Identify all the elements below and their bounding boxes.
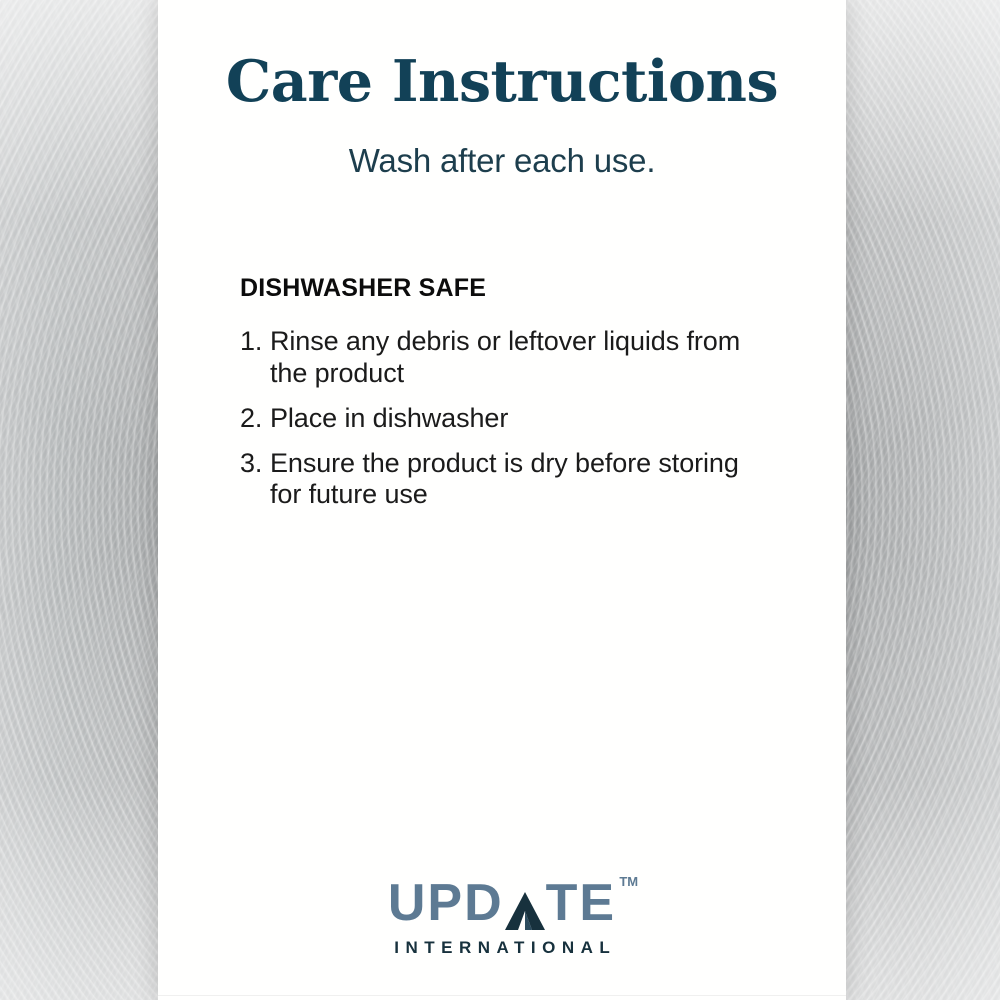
list-item-text: Place in dishwasher (270, 403, 750, 435)
list-item-text: Ensure the product is dry before storing… (270, 448, 750, 512)
list-item-text: Rinse any debris or leftover liquids fro… (270, 326, 750, 390)
screenshot-stage: Care Instructions Wash after each use. D… (0, 0, 1000, 1000)
list-item-number: 2. (240, 403, 270, 435)
section-heading-dishwasher-safe: DISHWASHER SAFE (240, 274, 486, 303)
trademark-icon: TM (619, 875, 638, 888)
brand-logo-wordmark: UPD TE TM (388, 877, 616, 929)
page-title: Care Instructions (158, 52, 846, 112)
list-item: 3. Ensure the product is dry before stor… (240, 448, 750, 512)
care-steps-list: 1. Rinse any debris or leftover liquids … (240, 326, 750, 524)
page-subtitle: Wash after each use. (158, 142, 846, 180)
brand-logo-subtitle: INTERNATIONAL (388, 938, 617, 958)
list-item-number: 3. (240, 448, 270, 480)
list-item-number: 1. (240, 326, 270, 358)
care-instructions-card: Care Instructions Wash after each use. D… (158, 0, 846, 1000)
list-item: 2. Place in dishwasher (240, 403, 750, 435)
card-inner: Care Instructions Wash after each use. D… (158, 0, 846, 1000)
brand-logo: UPD TE TM INTERNATIONAL (158, 877, 846, 958)
brand-logo-word-part-2: TE (546, 877, 616, 929)
brand-logo-word-part-1: UPD (388, 877, 504, 929)
list-item: 1. Rinse any debris or leftover liquids … (240, 326, 750, 390)
mountain-a-icon (505, 892, 545, 930)
